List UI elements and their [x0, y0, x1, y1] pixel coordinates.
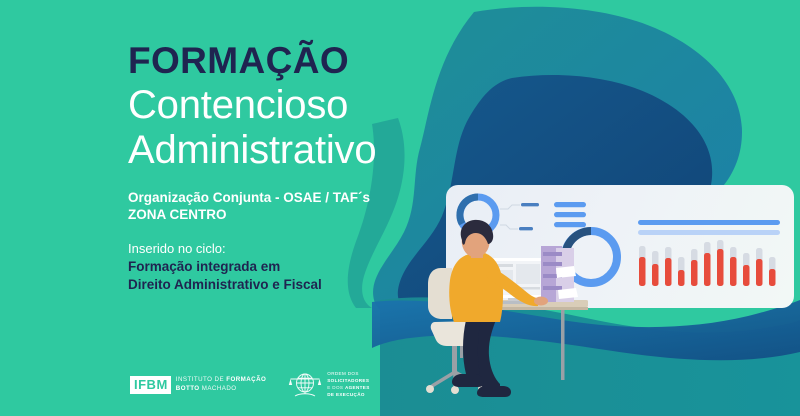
ifbm-wordmark: Instituto de Formação Botto Machado — [176, 376, 266, 394]
person-shoe-back — [452, 374, 484, 387]
osae-wordmark: Ordem dos Solicitadores e dos Agentes de… — [327, 371, 369, 399]
ifbm-monogram: IFBM — [130, 376, 171, 394]
paper-stack — [541, 246, 578, 302]
cycle-line-1: Formação integrada em — [128, 258, 458, 276]
person-shoe-front — [477, 386, 511, 397]
headline-kicker: FORMAÇÃO — [128, 42, 458, 79]
ifbm-line2-light: Machado — [202, 385, 237, 392]
scales-of-justice-icon — [288, 370, 322, 400]
desk-leg-right — [561, 310, 565, 380]
osae-line-2: Solicitadores — [327, 378, 369, 385]
headline-line-2: Contencioso — [128, 83, 458, 128]
logo-row: IFBM Instituto de Formação Botto Machado — [130, 370, 370, 400]
organization-block: Organização Conjunta - OSAE / TAF´s ZONA… — [128, 189, 458, 225]
ifbm-line2-bold: Botto — [176, 385, 200, 392]
osae-line-3-bold: Agentes — [345, 385, 370, 390]
ifbm-logo: IFBM Instituto de Formação Botto Machado — [130, 376, 266, 394]
organization-line-1: Organização Conjunta - OSAE / TAF´s — [128, 189, 458, 207]
cycle-intro: Inserido no ciclo: — [128, 240, 458, 258]
headline-line-3: Administrativo — [128, 128, 458, 173]
ifbm-line1-light: Instituto de — [176, 376, 224, 383]
person-hand — [534, 297, 548, 306]
cycle-block: Formação integrada em Direito Administra… — [128, 258, 458, 294]
osae-line-3-light: e dos — [327, 385, 343, 390]
text-column: FORMAÇÃO Contencioso Administrativo Orga… — [128, 42, 458, 294]
organization-line-2: ZONA CENTRO — [128, 206, 458, 224]
osae-line-1: Ordem dos — [327, 371, 369, 378]
ifbm-line1-bold: Formação — [226, 376, 266, 383]
promo-banner: FORMAÇÃO Contencioso Administrativo Orga… — [0, 0, 800, 416]
osae-logo: Ordem dos Solicitadores e dos Agentes de… — [288, 370, 369, 400]
cycle-line-2: Direito Administrativo e Fiscal — [128, 276, 458, 294]
osae-line-4: de Execução — [327, 392, 369, 399]
